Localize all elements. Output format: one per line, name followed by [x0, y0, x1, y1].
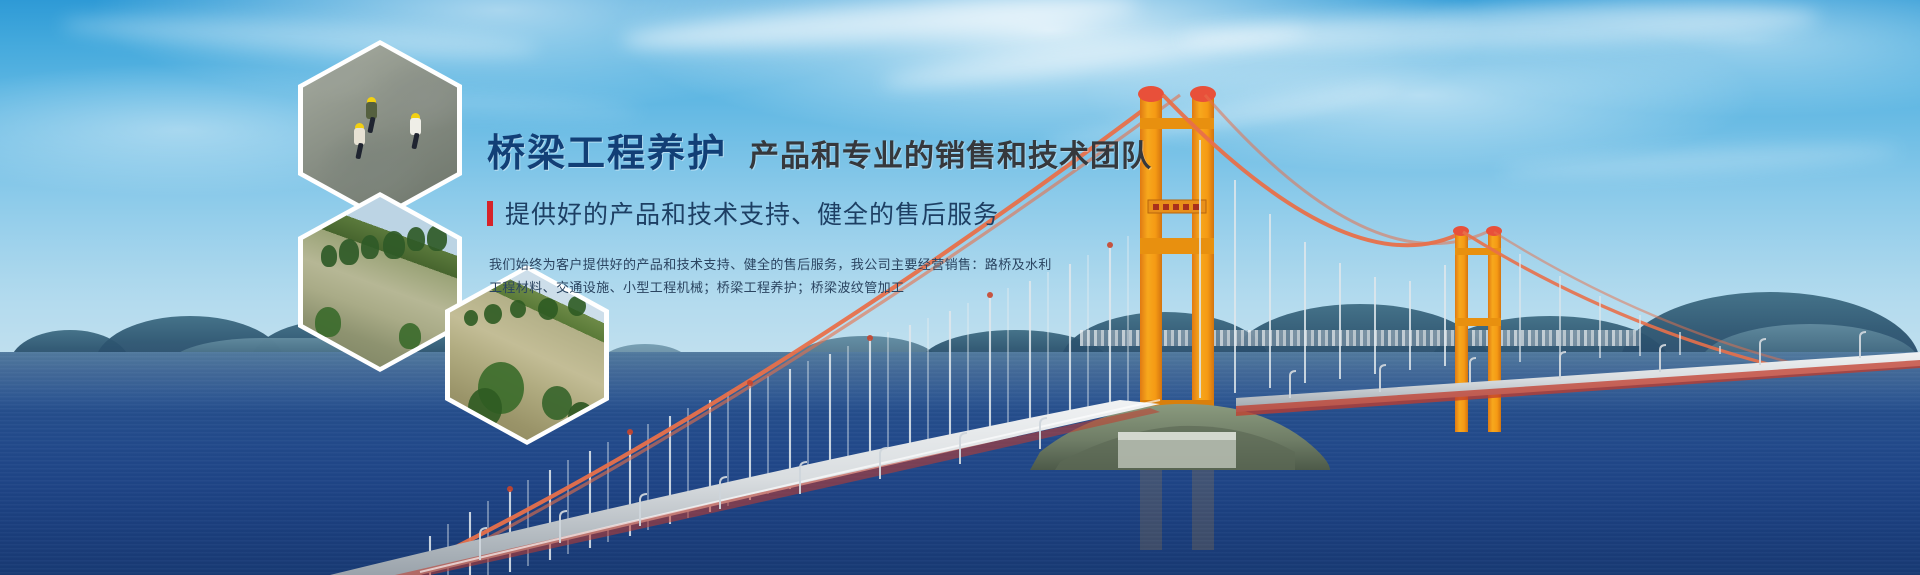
photo-hexagon-green-slope — [298, 192, 462, 372]
accent-bar-icon — [487, 201, 493, 226]
hero-banner: 桥梁工程养护 产品和专业的销售和技术团队 提供好的产品和技术支持、健全的售后服务… — [0, 0, 1920, 575]
photo-rock-slope-netting — [303, 45, 457, 215]
body-line-1: 我们始终为客户提供好的产品和技术支持、健全的售后服务，我公司主要经营销售：路桥及… — [489, 253, 1207, 276]
subheadline-text: 提供好的产品和技术支持、健全的售后服务 — [505, 195, 999, 231]
photo-green-slope-protection — [303, 197, 457, 367]
headline-primary: 桥梁工程养护 — [487, 122, 727, 177]
headline-secondary: 产品和专业的销售和技术团队 — [749, 131, 1152, 175]
subheadline-row: 提供好的产品和技术支持、健全的售后服务 — [487, 195, 1207, 231]
body-line-2: 工程材料、交通设施、小型工程机械；桥梁工程养护；桥梁波纹管加工 — [489, 276, 1207, 299]
banner-copy-block: 桥梁工程养护 产品和专业的销售和技术团队 提供好的产品和技术支持、健全的售后服务… — [487, 122, 1207, 299]
headline-row: 桥梁工程养护 产品和专业的销售和技术团队 — [487, 122, 1207, 177]
body-description: 我们始终为客户提供好的产品和技术支持、健全的售后服务，我公司主要经营销售：路桥及… — [489, 253, 1207, 299]
